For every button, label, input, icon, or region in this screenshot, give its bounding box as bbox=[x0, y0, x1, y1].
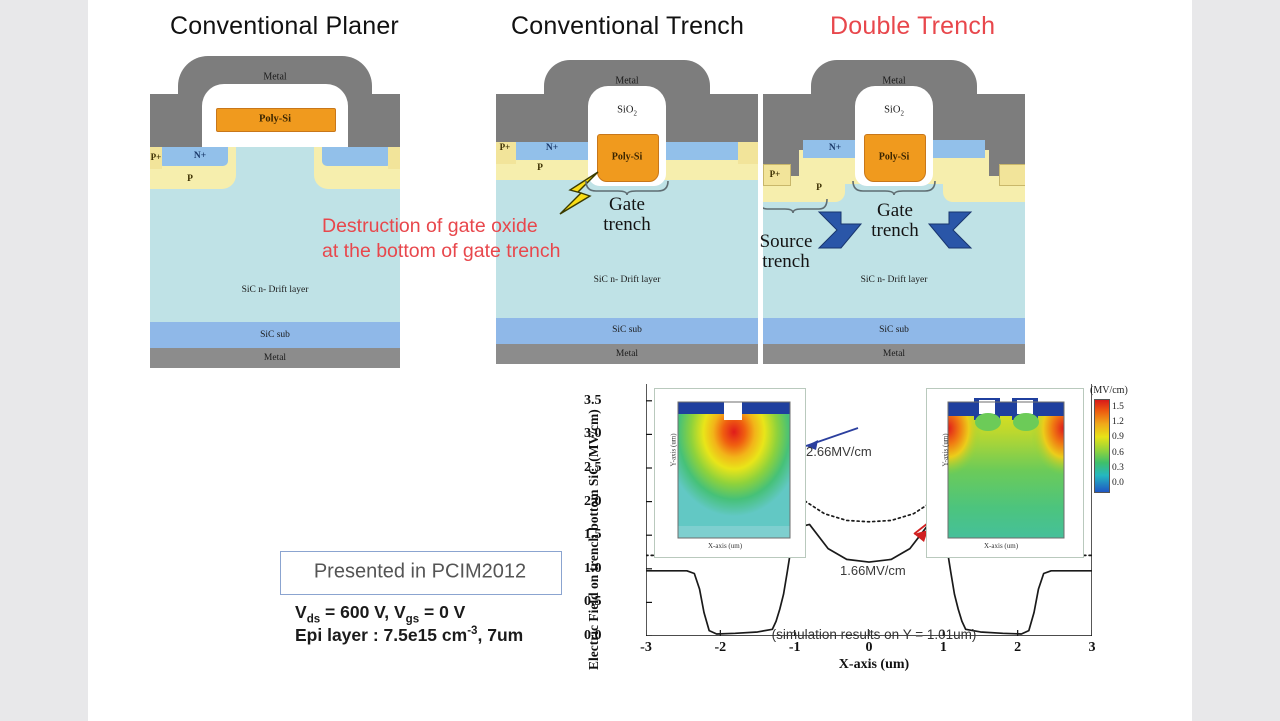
colorbar-legend: (MV/cm) 1.51.20.90.60.30.0 bbox=[1088, 385, 1168, 505]
slide-canvas: Conventional Planer Metal Poly-Si N+ P+ … bbox=[88, 0, 1192, 721]
chart-x-tick: 1 bbox=[940, 640, 947, 656]
panel-title-planar: Conventional Planer bbox=[170, 12, 399, 41]
label-drift: SiC n- Drift layer bbox=[861, 275, 928, 285]
chart-x-tick: 0 bbox=[866, 640, 873, 656]
chart-y-tick: 2.0 bbox=[584, 494, 640, 510]
colorbar-gradient bbox=[1094, 399, 1110, 493]
inset-y-caption: Y-axis (um) bbox=[670, 433, 678, 466]
gate-trench-brace bbox=[851, 180, 937, 196]
colorbar-tick: 0.6 bbox=[1112, 448, 1124, 458]
label-oxide: SiO2 bbox=[884, 104, 904, 117]
label-drift: SiC n- Drift layer bbox=[242, 285, 309, 295]
label-drift: SiC n- Drift layer bbox=[594, 275, 661, 285]
condition-line-2: Epi layer : 7.5e15 cm-3, 7um bbox=[295, 625, 523, 646]
chart-y-tick: 0.0 bbox=[584, 628, 640, 644]
layer-pplus-right bbox=[999, 164, 1025, 186]
gate-trench-label-double: Gate trench bbox=[871, 201, 918, 241]
panel-title-trench: Conventional Trench bbox=[511, 12, 744, 41]
gate-trench-label-trench: Gate trench bbox=[603, 195, 650, 235]
chart-y-tick: 1.0 bbox=[584, 561, 640, 577]
chart-x-tick: 2 bbox=[1014, 640, 1021, 656]
label-poly-si: Poly-Si bbox=[612, 152, 643, 163]
label-pwell: P bbox=[187, 174, 193, 184]
chart-x-tick: -1 bbox=[789, 640, 801, 656]
label-nplus: N+ bbox=[546, 143, 558, 153]
colorbar-tick: 1.2 bbox=[1112, 417, 1124, 427]
label-pplus: P+ bbox=[500, 142, 511, 152]
label-substrate: SiC sub bbox=[612, 325, 642, 335]
colorbar-tick: 0.3 bbox=[1112, 463, 1124, 473]
pcim-badge-text: Presented in PCIM2012 bbox=[314, 561, 526, 584]
label-substrate: SiC sub bbox=[879, 325, 909, 335]
colorbar-tick: 1.5 bbox=[1112, 402, 1124, 412]
chart-x-tick: -3 bbox=[640, 640, 652, 656]
label-metal-top: Metal bbox=[882, 76, 905, 87]
inset-simulation-conventional-trench: Y-axis (um) X-axis (um) bbox=[654, 388, 806, 558]
colorbar-tick: 0.9 bbox=[1112, 432, 1124, 442]
inset-x-caption: X-axis (um) bbox=[984, 542, 1018, 550]
destruction-annotation: Destruction of gate oxide at the bottom … bbox=[322, 214, 561, 264]
label-nplus: N+ bbox=[829, 143, 841, 153]
label-nplus: N+ bbox=[194, 151, 206, 161]
chart-y-tick: 3.5 bbox=[584, 393, 640, 409]
source-trench-label: Source trench bbox=[760, 232, 813, 272]
chart-annotation-166: 1.66MV/cm bbox=[840, 563, 906, 578]
chart-y-tick: 2.5 bbox=[584, 460, 640, 476]
label-bottom-metal: Metal bbox=[616, 349, 638, 359]
layer-pplus-right bbox=[388, 147, 400, 169]
inset-y-caption: Y-axis (um) bbox=[942, 433, 950, 466]
label-substrate: SiC sub bbox=[260, 330, 290, 340]
panel-title-double: Double Trench bbox=[830, 12, 995, 41]
chart-y-tick: 1.5 bbox=[584, 527, 640, 543]
label-pwell: P bbox=[816, 183, 822, 193]
chart-y-tick: 3.0 bbox=[584, 426, 640, 442]
colorbar-tick: 0.0 bbox=[1112, 478, 1124, 488]
colorbar-title: (MV/cm) bbox=[1090, 385, 1128, 396]
chart-x-axis-label: X-axis (um) bbox=[839, 657, 909, 673]
label-bottom-metal: Metal bbox=[883, 349, 905, 359]
label-pwell: P bbox=[537, 163, 543, 173]
label-metal-top: Metal bbox=[615, 76, 638, 87]
inset-simulation-double-trench: Y-axis (um) X-axis (um) bbox=[926, 388, 1084, 558]
label-bottom-metal: Metal bbox=[264, 353, 286, 363]
label-oxide: SiO2 bbox=[617, 104, 637, 117]
chart-x-tick: -2 bbox=[714, 640, 726, 656]
label-poly-si: Poly-Si bbox=[259, 114, 291, 125]
chart-x-tick: 3 bbox=[1089, 640, 1096, 656]
chart-y-tick: 0.5 bbox=[584, 594, 640, 610]
inset-x-caption: X-axis (um) bbox=[708, 542, 742, 550]
layer-nplus-right bbox=[322, 147, 392, 166]
chart-simulation-note: (simulation results on Y = 1.01um) bbox=[772, 627, 977, 642]
condition-line-1: Vds = 600 V, Vgs = 0 V bbox=[295, 602, 465, 626]
chart-annotation-266: 2.66MV/cm bbox=[806, 444, 872, 459]
label-poly-si: Poly-Si bbox=[879, 152, 910, 163]
field-direction-arrow-right bbox=[925, 208, 975, 254]
field-direction-arrow-left bbox=[815, 208, 865, 254]
label-metal-top: Metal bbox=[263, 72, 286, 83]
label-pplus: P+ bbox=[770, 169, 781, 179]
label-pplus: P+ bbox=[151, 152, 162, 162]
